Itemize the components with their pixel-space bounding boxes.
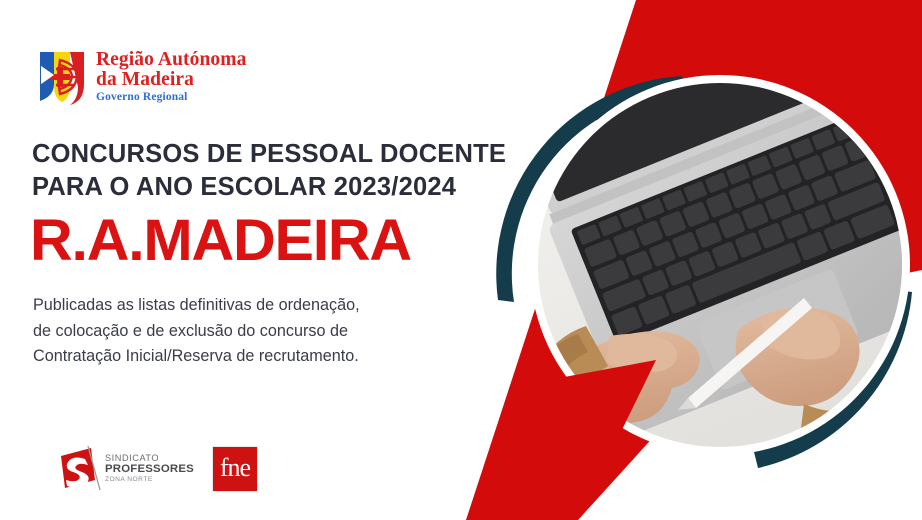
spzn-line-2: PROFESSORES xyxy=(105,464,194,475)
gov-logo-line1: Região Autónoma xyxy=(96,50,246,70)
madeira-shield-icon xyxy=(36,48,88,106)
spzn-logo: SINDICATO PROFESSORES ZONA NORTE xyxy=(55,446,194,492)
spzn-s-mark-icon xyxy=(55,446,101,492)
gov-regional-madeira-logo: Região Autónoma da Madeira Governo Regio… xyxy=(36,48,246,106)
body-line-2: de colocação e de exclusão do concurso d… xyxy=(33,319,463,345)
spzn-line-3: ZONA NORTE xyxy=(105,477,194,484)
page-kicker: CONCURSOS DE PESSOAL DOCENTE PARA O ANO … xyxy=(32,138,552,204)
kicker-line-2: PARA O ANO ESCOLAR 2023/2024 xyxy=(32,171,552,204)
fne-logo-icon: fne xyxy=(212,446,258,492)
fne-logo-word: fne xyxy=(220,455,250,481)
gov-logo-line3: Governo Regional xyxy=(96,92,246,104)
spzn-line-1: SINDICATO xyxy=(105,454,194,463)
kicker-line-1: CONCURSOS DE PESSOAL DOCENTE xyxy=(32,138,552,171)
body-line-3: Contratação Inicial/Reserva de recrutame… xyxy=(33,344,463,370)
page-title: R.A.MADEIRA xyxy=(30,212,411,270)
body-line-1: Publicadas as listas definitivas de orde… xyxy=(33,293,463,319)
footer-logo-row: SINDICATO PROFESSORES ZONA NORTE fne xyxy=(55,446,258,492)
gov-logo-line2: da Madeira xyxy=(96,70,246,90)
poster-canvas: Região Autónoma da Madeira Governo Regio… xyxy=(0,0,922,520)
artwork-panel xyxy=(460,0,922,520)
body-copy: Publicadas as listas definitivas de orde… xyxy=(33,293,463,370)
